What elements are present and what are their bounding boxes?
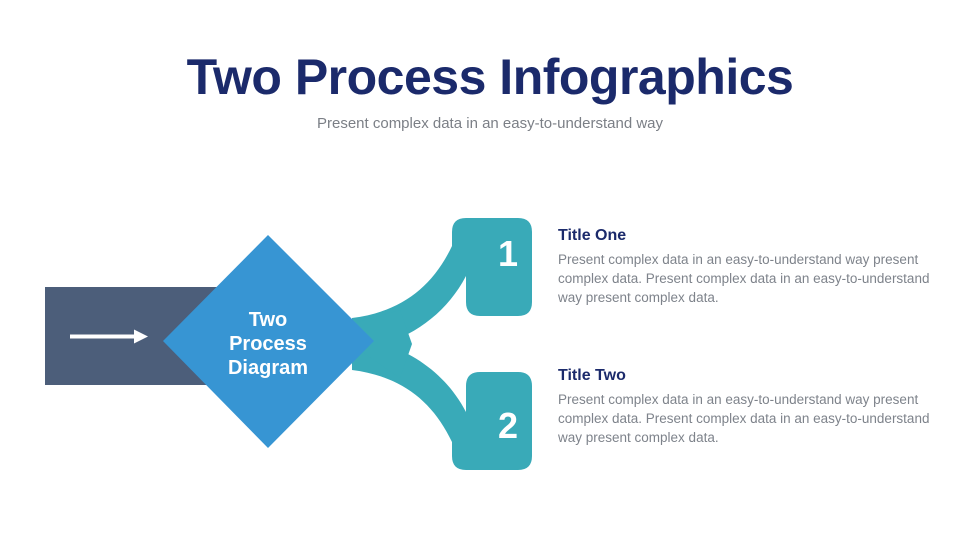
- node-label-line-3: Diagram: [228, 357, 308, 379]
- node-label-line-1: Two: [249, 309, 288, 331]
- branch-number-1: 1: [498, 233, 518, 274]
- content-title-two: Title Two: [558, 366, 938, 386]
- content-body-two: Present complex data in an easy-to-under…: [558, 390, 938, 447]
- branch-number-2: 2: [498, 405, 518, 446]
- content-block-one: Title One Present complex data in an eas…: [558, 226, 938, 307]
- node-label-line-2: Process: [229, 333, 307, 355]
- content-body-one: Present complex data in an easy-to-under…: [558, 250, 938, 307]
- content-title-one: Title One: [558, 226, 938, 246]
- content-block-two: Title Two Present complex data in an eas…: [558, 366, 938, 447]
- slide-canvas: Two Process Infographics Present complex…: [0, 0, 980, 551]
